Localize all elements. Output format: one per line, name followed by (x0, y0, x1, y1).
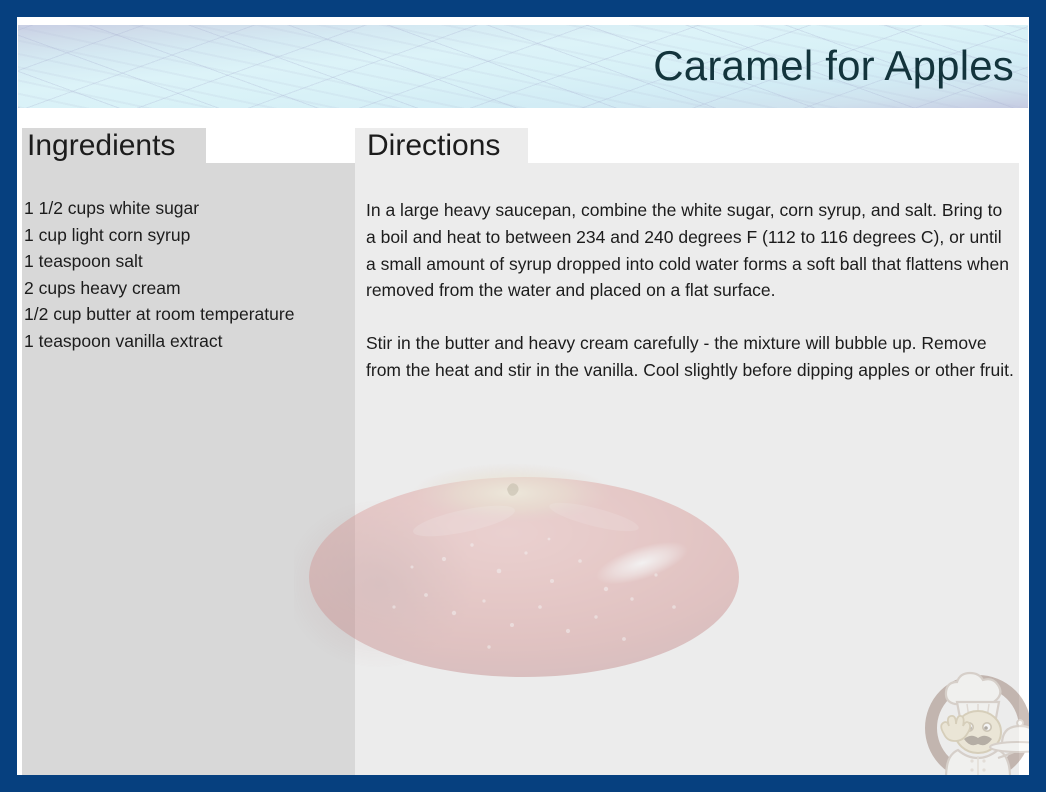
list-item: 1 teaspoon salt (24, 248, 350, 275)
list-item: 2 cups heavy cream (24, 275, 350, 302)
list-item: 1 teaspoon vanilla extract (24, 328, 350, 355)
directions-paragraph: In a large heavy saucepan, combine the w… (366, 197, 1016, 304)
page-title: Caramel for Apples (653, 45, 1014, 87)
ingredients-heading: Ingredients (27, 129, 175, 163)
header-banner: Caramel for Apples (18, 25, 1028, 108)
directions-body: In a large heavy saucepan, combine the w… (366, 197, 1016, 384)
directions-paragraph: Stir in the butter and heavy cream caref… (366, 330, 1016, 384)
recipe-slide: Caramel for Apples Ingredients 1 1/2 cup… (0, 0, 1046, 792)
ingredients-list: 1 1/2 cups white sugar 1 cup light corn … (24, 195, 350, 355)
list-item: 1 1/2 cups white sugar (24, 195, 350, 222)
list-item: 1/2 cup butter at room temperature (24, 301, 350, 328)
directions-heading: Directions (367, 129, 500, 163)
list-item: 1 cup light corn syrup (24, 222, 350, 249)
